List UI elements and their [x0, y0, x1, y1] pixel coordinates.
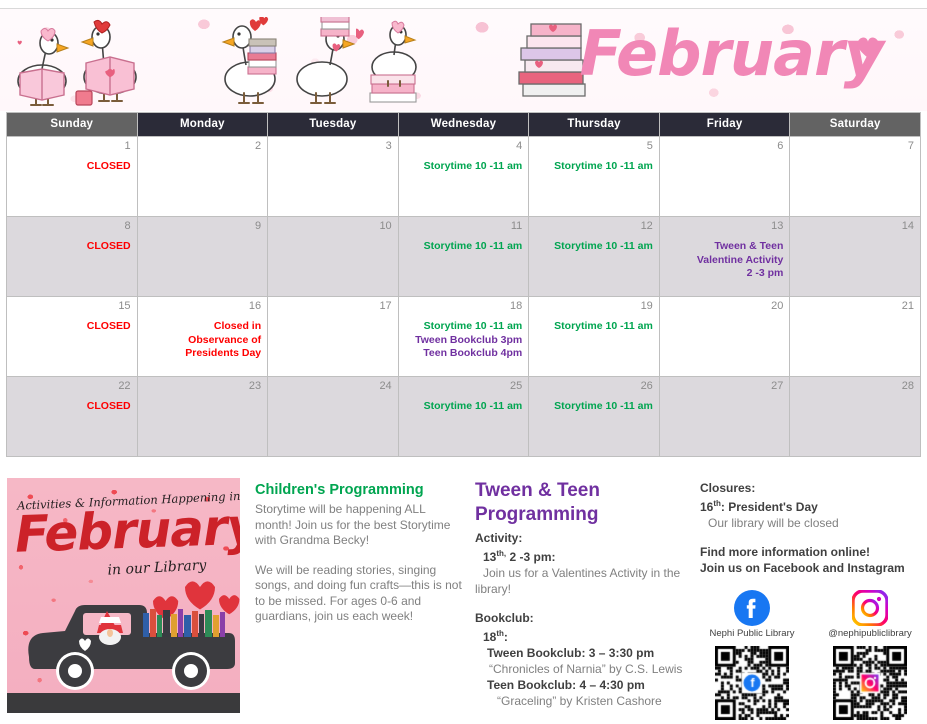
calendar-day-cell[interactable]: 6 — [659, 137, 790, 217]
calendar-event: Tween Bookclub 3pm — [405, 334, 523, 348]
calendar-week-row: 15CLOSED16Closed inObservance ofPresiden… — [7, 297, 921, 377]
tween-teen-heading-line1: Tween & Teen — [475, 480, 693, 502]
calendar-event: CLOSED — [13, 320, 131, 334]
weekday-header-tuesday: Tuesday — [268, 113, 399, 137]
bookclub-date-number: 18 — [483, 630, 496, 644]
closures-heading: Closures: — [700, 480, 925, 496]
day-number: 21 — [796, 300, 914, 312]
day-number: 4 — [405, 140, 523, 152]
calendar-event: Teen Bookclub 4pm — [405, 347, 523, 361]
calendar-day-cell[interactable]: 19Storytime 10 -11 am — [529, 297, 660, 377]
calendar-event: CLOSED — [13, 400, 131, 414]
calendar-day-cell[interactable]: 17 — [268, 297, 399, 377]
activity-desc-line-1: Join us for a Valentines Activity in the — [475, 565, 693, 581]
calendar-day-cell[interactable]: 7 — [790, 137, 921, 217]
tween-bookclub-title: Tween Bookclub: 3 – 3:30 pm — [475, 645, 693, 661]
day-number: 10 — [274, 220, 392, 232]
calendar-day-cell[interactable]: 28 — [790, 377, 921, 457]
february-promo-graphic: Activities & Information Happening in Fe… — [7, 478, 240, 713]
childrens-paragraph-2: We will be reading stories, singing song… — [255, 563, 463, 625]
day-number: 12 — [535, 220, 653, 232]
calendar-event: Storytime 10 -11 am — [405, 240, 523, 254]
weekday-header-thursday: Thursday — [529, 113, 660, 137]
gnome-truck-icon — [13, 579, 240, 699]
childrens-heading: Children's Programming — [255, 482, 463, 499]
calendar-day-cell[interactable]: 25Storytime 10 -11 am — [398, 377, 529, 457]
calendar-day-cell[interactable]: 8CLOSED — [7, 217, 138, 297]
calendar-week-row: 8CLOSED91011Storytime 10 -11 am12Storyti… — [7, 217, 921, 297]
promo-ground — [7, 693, 240, 713]
calendar-event: CLOSED — [13, 160, 131, 174]
childrens-paragraph-1: Storytime will be happening ALL month! J… — [255, 502, 463, 549]
goose-reading-book-icon — [12, 25, 78, 109]
calendar-week-row: 22CLOSED232425Storytime 10 -11 am26Story… — [7, 377, 921, 457]
day-number: 14 — [796, 220, 914, 232]
day-number: 26 — [535, 380, 653, 392]
bookclub-date-colon: : — [504, 630, 508, 644]
day-number: 17 — [274, 300, 392, 312]
tween-teen-programming-section: Tween & Teen Programming Activity: 13th,… — [475, 480, 693, 709]
calendar-event: Presidents Day — [144, 347, 262, 361]
calendar-event: 2 -3 pm — [666, 267, 784, 281]
instagram-icon[interactable] — [818, 590, 922, 626]
calendar-day-cell[interactable]: 16Closed inObservance ofPresidents Day — [137, 297, 268, 377]
day-number: 27 — [666, 380, 784, 392]
day-number: 28 — [796, 380, 914, 392]
day-number: 15 — [13, 300, 131, 312]
day-number: 8 — [13, 220, 131, 232]
find-more-online: Find more information online! — [700, 544, 925, 560]
day-number: 11 — [405, 220, 523, 232]
closure-date-suffix: th — [713, 499, 721, 508]
calendar-day-cell[interactable]: 20 — [659, 297, 790, 377]
day-number: 24 — [274, 380, 392, 392]
calendar-day-cell[interactable]: 14 — [790, 217, 921, 297]
facebook-page-name: Nephi Public Library — [700, 628, 804, 640]
weekday-header-friday: Friday — [659, 113, 790, 137]
weekday-header-sunday: Sunday — [7, 113, 138, 137]
calendar-day-cell[interactable]: 15CLOSED — [7, 297, 138, 377]
calendar-day-cell[interactable]: 4Storytime 10 -11 am — [398, 137, 529, 217]
day-number: 13 — [666, 220, 784, 232]
calendar-event: Tween & Teen — [666, 240, 784, 254]
banner-month-title: February — [579, 23, 883, 85]
calendar-day-cell[interactable]: 26Storytime 10 -11 am — [529, 377, 660, 457]
goose-with-bow-reading-icon — [70, 17, 140, 109]
day-number: 9 — [144, 220, 262, 232]
calendar-day-cell[interactable]: 21 — [790, 297, 921, 377]
calendar-day-cell[interactable]: 27 — [659, 377, 790, 457]
closure-date-label: : President's Day — [721, 500, 818, 514]
banner-heart-icon — [855, 35, 881, 59]
activity-label: Activity: — [475, 530, 693, 546]
calendar-day-cell[interactable]: 18Storytime 10 -11 amTween Bookclub 3pmT… — [398, 297, 529, 377]
day-number: 16 — [144, 300, 262, 312]
calendar-day-cell[interactable]: 22CLOSED — [7, 377, 138, 457]
calendar-day-cell[interactable]: 13Tween & TeenValentine Activity2 -3 pm — [659, 217, 790, 297]
closure-note: Our library will be closed — [700, 515, 925, 531]
day-number: 18 — [405, 300, 523, 312]
calendar-day-cell[interactable]: 5Storytime 10 -11 am — [529, 137, 660, 217]
calendar-event: Storytime 10 -11 am — [535, 160, 653, 174]
calendar-day-cell[interactable]: 11Storytime 10 -11 am — [398, 217, 529, 297]
bottom-information-section: Activities & Information Happening in Fe… — [0, 470, 927, 713]
weekday-header-wednesday: Wednesday — [398, 113, 529, 137]
calendar-day-cell[interactable]: 3 — [268, 137, 399, 217]
activity-time: 2 -3 pm: — [509, 550, 555, 564]
instagram-block[interactable]: @nephipubliclibrary — [818, 590, 922, 724]
activity-date-suffix: th, — [496, 549, 506, 558]
activity-date-time: 13th, 2 -3 pm: — [475, 546, 693, 565]
weekday-header-monday: Monday — [137, 113, 268, 137]
activity-desc-line-2: library! — [475, 581, 693, 597]
instagram-handle: @nephipubliclibrary — [818, 628, 922, 640]
bookclub-label: Bookclub: — [475, 610, 693, 626]
day-number: 22 — [13, 380, 131, 392]
bookclub-date: 18th: — [475, 626, 693, 645]
calendar-event: Storytime 10 -11 am — [535, 320, 653, 334]
teen-bookclub-book: “Graceling” by Kristen Cashore — [475, 693, 693, 709]
facebook-icon[interactable] — [700, 590, 804, 626]
day-number: 20 — [666, 300, 784, 312]
tween-teen-heading-line2: Programming — [475, 504, 693, 526]
calendar-event: Valentine Activity — [666, 254, 784, 268]
spacer — [700, 531, 925, 544]
closure-date-number: 16 — [700, 500, 713, 514]
calendar-event: CLOSED — [13, 240, 131, 254]
day-number: 1 — [13, 140, 131, 152]
calendar-day-cell[interactable]: 10 — [268, 217, 399, 297]
calendar-event: Closed in — [144, 320, 262, 334]
promo-month-title: February — [14, 502, 234, 560]
day-number: 23 — [144, 380, 262, 392]
goose-on-books-icon — [356, 19, 430, 109]
calendar-day-cell[interactable]: 23 — [137, 377, 268, 457]
day-number: 25 — [405, 380, 523, 392]
day-number: 5 — [535, 140, 653, 152]
monthly-calendar: Sunday Monday Tuesday Wednesday Thursday… — [6, 112, 921, 457]
teen-bookclub-title: Teen Bookclub: 4 – 4:30 pm — [475, 677, 693, 693]
calendar-event: Storytime 10 -11 am — [405, 320, 523, 334]
calendar-header-row: Sunday Monday Tuesday Wednesday Thursday… — [7, 113, 921, 137]
calendar-event: Observance of — [144, 334, 262, 348]
header-banner: February — [0, 8, 927, 111]
calendar-week-row: 1CLOSED234Storytime 10 -11 am5Storytime … — [7, 137, 921, 217]
facebook-block[interactable]: Nephi Public Library — [700, 590, 804, 724]
tween-bookclub-book: “Chronicles of Narnia” by C.S. Lewis — [475, 661, 693, 677]
day-number: 6 — [666, 140, 784, 152]
calendar-day-cell[interactable]: 2 — [137, 137, 268, 217]
calendar-day-cell[interactable]: 12Storytime 10 -11 am — [529, 217, 660, 297]
weekday-header-saturday: Saturday — [790, 113, 921, 137]
calendar-event: Storytime 10 -11 am — [405, 160, 523, 174]
day-number: 7 — [796, 140, 914, 152]
goose-with-book-hat-icon — [290, 17, 362, 109]
closure-date-line: 16th: President's Day — [700, 496, 925, 515]
goose-carrying-books-icon — [214, 17, 284, 109]
spacer — [475, 597, 693, 610]
facebook-qr-code[interactable] — [711, 642, 793, 724]
day-number: 19 — [535, 300, 653, 312]
day-number: 3 — [274, 140, 392, 152]
social-links: Nephi Public Library — [700, 590, 925, 708]
calendar-event: Storytime 10 -11 am — [535, 400, 653, 414]
childrens-programming-section: Children's Programming Storytime will be… — [255, 482, 463, 625]
calendar-event: Storytime 10 -11 am — [535, 240, 653, 254]
closures-section: Closures: 16th: President's Day Our libr… — [700, 480, 925, 576]
bookclub-date-suffix: th — [496, 629, 504, 638]
join-us-social: Join us on Facebook and Instagram — [700, 560, 925, 576]
calendar-day-cell[interactable]: 24 — [268, 377, 399, 457]
day-number: 2 — [144, 140, 262, 152]
calendar-day-cell[interactable]: 1CLOSED — [7, 137, 138, 217]
calendar-page: February Sunday Monday Tuesday Wednesday… — [0, 0, 927, 713]
instagram-qr-code[interactable] — [829, 642, 911, 724]
calendar-day-cell[interactable]: 9 — [137, 217, 268, 297]
calendar-event: Storytime 10 -11 am — [405, 400, 523, 414]
activity-date: 13 — [483, 550, 496, 564]
